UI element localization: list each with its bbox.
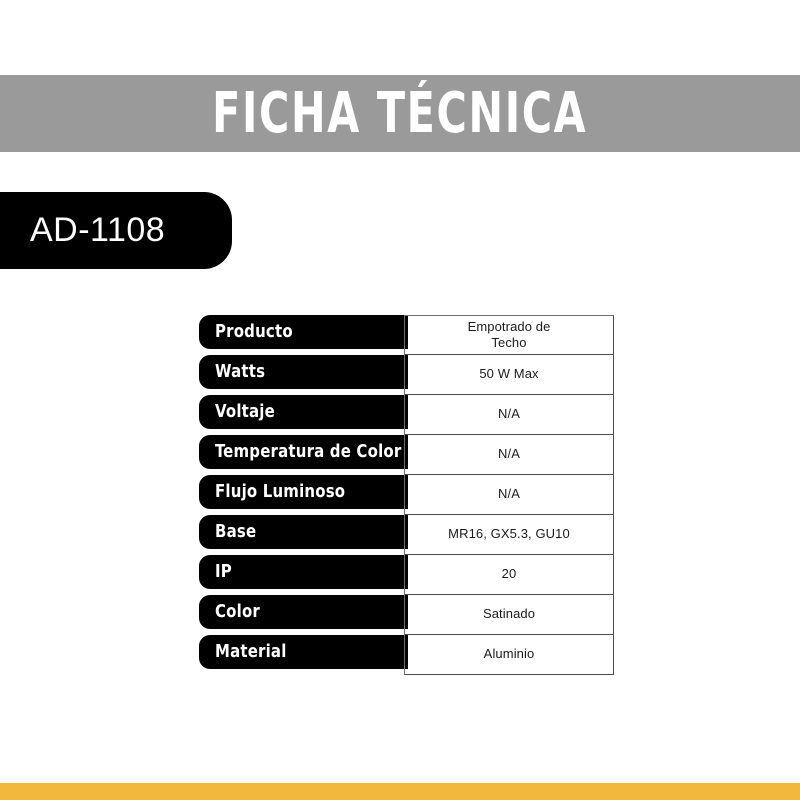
spec-label-flujo-luminoso: Flujo Luminoso: [199, 475, 408, 509]
footer-accent-bar: [0, 783, 800, 800]
table-row: Watts 50 W Max: [199, 355, 614, 395]
table-row: Flujo Luminoso N/A: [199, 475, 614, 515]
spec-label-temperatura-de-color: Temperatura de Color: [199, 435, 408, 469]
spec-label-text: Temperatura de Color: [215, 442, 401, 462]
spec-value-text: MR16, GX5.3, GU10: [448, 526, 570, 542]
spec-label-text: Base: [215, 522, 256, 542]
spec-label-text: Voltaje: [215, 402, 275, 422]
spec-label-text: IP: [215, 562, 232, 582]
spec-value-text: N/A: [498, 486, 520, 502]
spec-value-ip: 20: [404, 555, 614, 595]
spec-value-text: 20: [502, 566, 517, 582]
spec-label-watts: Watts: [199, 355, 408, 389]
spec-value-watts: 50 W Max: [404, 355, 614, 395]
table-row: Color Satinado: [199, 595, 614, 635]
spec-value-temperatura-de-color: N/A: [404, 435, 614, 475]
spec-value-text: 50 W Max: [479, 366, 538, 382]
table-row: Base MR16, GX5.3, GU10: [199, 515, 614, 555]
spec-label-voltaje: Voltaje: [199, 395, 408, 429]
spec-label-material: Material: [199, 635, 408, 669]
spec-table: Producto Empotrado de Techo Watts 50 W M…: [199, 315, 614, 675]
product-code-label: AD-1108: [30, 211, 165, 250]
table-row: Producto Empotrado de Techo: [199, 315, 614, 355]
spec-label-text: Flujo Luminoso: [215, 482, 345, 502]
spec-value-text: N/A: [498, 406, 520, 422]
table-row: IP 20: [199, 555, 614, 595]
spec-value-flujo-luminoso: N/A: [404, 475, 614, 515]
product-code-badge: AD-1108: [0, 192, 232, 269]
table-row: Voltaje N/A: [199, 395, 614, 435]
spec-label-producto: Producto: [199, 315, 408, 349]
spec-value-material: Aluminio: [404, 635, 614, 675]
page-title: FICHA TÉCNICA: [212, 86, 587, 142]
spec-label-text: Color: [215, 602, 260, 622]
spec-label-text: Material: [215, 642, 287, 662]
spec-value-text: Satinado: [483, 606, 535, 622]
spec-value-producto: Empotrado de Techo: [404, 315, 614, 355]
spec-label-base: Base: [199, 515, 408, 549]
spec-label-ip: IP: [199, 555, 408, 589]
spec-label-text: Watts: [215, 362, 265, 382]
header-banner: FICHA TÉCNICA: [0, 75, 800, 152]
spec-value-base: MR16, GX5.3, GU10: [404, 515, 614, 555]
table-row: Material Aluminio: [199, 635, 614, 675]
spec-value-voltaje: N/A: [404, 395, 614, 435]
spec-value-text: N/A: [498, 446, 520, 462]
spec-value-text: Empotrado de Techo: [468, 319, 551, 352]
spec-value-text: Aluminio: [484, 646, 535, 662]
table-row: Temperatura de Color N/A: [199, 435, 614, 475]
spec-label-text: Producto: [215, 322, 293, 342]
spec-label-color: Color: [199, 595, 408, 629]
spec-value-color: Satinado: [404, 595, 614, 635]
